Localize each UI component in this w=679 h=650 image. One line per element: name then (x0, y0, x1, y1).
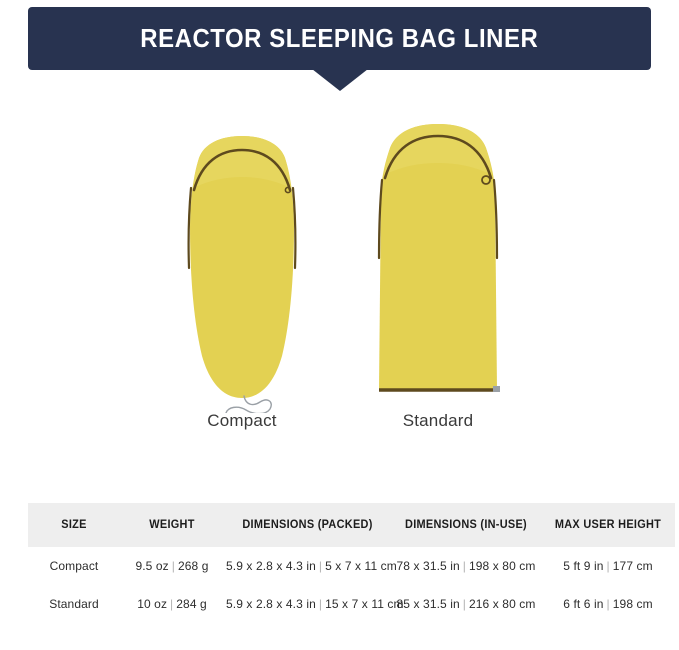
page-header-banner: REACTOR SLEEPING BAG LINER (28, 7, 651, 91)
inuse-metric: 216 x 80 cm (469, 597, 535, 611)
column-header-dimensions-in-use: DIMENSIONS (IN-USE) (395, 503, 538, 547)
column-header-size: SIZE (30, 503, 117, 547)
weight-imperial: 10 oz (137, 597, 167, 611)
column-header-weight: WEIGHT (123, 503, 222, 547)
table-header: SIZE WEIGHT DIMENSIONS (PACKED) DIMENSIO… (28, 503, 675, 547)
unit-separator: | (604, 597, 613, 611)
unit-separator: | (604, 559, 613, 573)
height-metric: 198 cm (613, 597, 653, 611)
height-imperial: 5 ft 9 in (563, 559, 603, 573)
cell-size-compact: Compact (28, 547, 120, 585)
inuse-metric: 198 x 80 cm (469, 559, 535, 573)
unit-separator: | (167, 597, 176, 611)
table-header-row: SIZE WEIGHT DIMENSIONS (PACKED) DIMENSIO… (28, 503, 675, 547)
compact-liner-illustration (142, 118, 342, 413)
unit-separator: | (316, 597, 325, 611)
cell-height-compact: 5 ft 9 in|177 cm (541, 547, 675, 585)
unit-separator: | (460, 597, 469, 611)
standard-bottom-tab (493, 386, 500, 392)
packed-imperial: 5.9 x 2.8 x 4.3 in (226, 597, 316, 611)
cell-height-standard: 6 ft 6 in|198 cm (541, 585, 675, 623)
cell-inuse-standard: 85 x 31.5 in|216 x 80 cm (391, 585, 541, 623)
height-metric: 177 cm (613, 559, 653, 573)
compact-label: Compact (142, 411, 342, 431)
specifications-table: SIZE WEIGHT DIMENSIONS (PACKED) DIMENSIO… (28, 503, 675, 623)
product-compact: Compact (142, 118, 342, 448)
table-row: Compact 9.5 oz|268 g 5.9 x 2.8 x 4.3 in|… (28, 547, 675, 585)
weight-metric: 268 g (178, 559, 209, 573)
product-illustration-group: Compact Standard (0, 118, 679, 448)
weight-imperial: 9.5 oz (135, 559, 168, 573)
cell-weight-compact: 9.5 oz|268 g (120, 547, 224, 585)
packed-metric: 15 x 7 x 11 cm (325, 597, 404, 611)
unit-separator: | (169, 559, 178, 573)
cell-packed-compact: 5.9 x 2.8 x 4.3 in|5 x 7 x 11 cm (224, 547, 391, 585)
height-imperial: 6 ft 6 in (563, 597, 603, 611)
unit-separator: | (316, 559, 325, 573)
cell-packed-standard: 5.9 x 2.8 x 4.3 in|15 x 7 x 11 cm (224, 585, 391, 623)
packed-metric: 5 x 7 x 11 cm (325, 559, 397, 573)
product-spec-page: { "banner": { "title": "REACTOR SLEEPING… (0, 0, 679, 650)
inuse-imperial: 85 x 31.5 in (397, 597, 460, 611)
table-row: Standard 10 oz|284 g 5.9 x 2.8 x 4.3 in|… (28, 585, 675, 623)
table-body: Compact 9.5 oz|268 g 5.9 x 2.8 x 4.3 in|… (28, 547, 675, 623)
weight-metric: 284 g (176, 597, 207, 611)
cell-inuse-compact: 78 x 31.5 in|198 x 80 cm (391, 547, 541, 585)
product-standard: Standard (338, 118, 538, 448)
standard-label: Standard (338, 411, 538, 431)
column-header-dimensions-packed: DIMENSIONS (PACKED) (228, 503, 387, 547)
cell-size-standard: Standard (28, 585, 120, 623)
inuse-imperial: 78 x 31.5 in (397, 559, 460, 573)
cell-weight-standard: 10 oz|284 g (120, 585, 224, 623)
standard-liner-illustration (338, 118, 538, 413)
banner-body: REACTOR SLEEPING BAG LINER (28, 7, 651, 70)
packed-imperial: 5.9 x 2.8 x 4.3 in (226, 559, 316, 573)
column-header-max-user-height: MAX USER HEIGHT (544, 503, 671, 547)
page-title: REACTOR SLEEPING BAG LINER (140, 23, 538, 54)
unit-separator: | (460, 559, 469, 573)
banner-pointer-triangle (312, 69, 368, 91)
